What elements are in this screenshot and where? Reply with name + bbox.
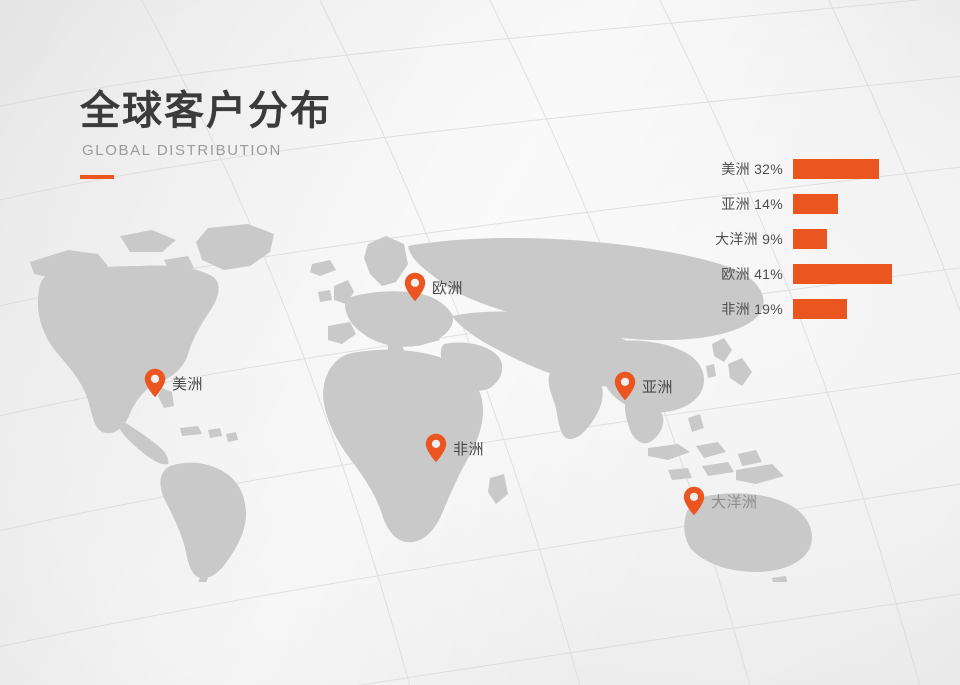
marker-asia[interactable]: 亚洲 <box>614 371 673 401</box>
chart-row-bar <box>793 159 879 179</box>
chart-row-bar <box>793 264 892 284</box>
map-pin-label: 非洲 <box>453 438 484 459</box>
map-pin-icon <box>425 433 447 463</box>
map-pin-label: 欧洲 <box>432 277 463 298</box>
slide-canvas: 全球客户分布 GLOBAL DISTRIBUTION <box>0 0 960 685</box>
map-pin-icon <box>683 486 705 516</box>
chart-row-bar <box>793 229 827 249</box>
chart-row-label: 非洲 19% <box>700 299 793 319</box>
map-pin-icon <box>404 272 426 302</box>
chart-row-label: 亚洲 14% <box>700 194 793 214</box>
chart-row-bar <box>793 194 838 214</box>
chart-row: 大洋洲 9% <box>700 229 827 249</box>
marker-oceania[interactable]: 大洋洲 <box>683 486 758 516</box>
map-pin-icon <box>614 371 636 401</box>
chart-row-bar <box>793 299 847 319</box>
marker-europe[interactable]: 欧洲 <box>404 272 463 302</box>
map-pin-label: 大洋洲 <box>711 491 758 512</box>
marker-africa[interactable]: 非洲 <box>425 433 484 463</box>
chart-row: 欧洲 41% <box>700 264 892 284</box>
map-pin-icon <box>144 368 166 398</box>
map-pin-label: 美洲 <box>172 373 203 394</box>
world-map: 美洲欧洲亚洲非洲大洋洲 <box>0 0 960 685</box>
map-pin-label: 亚洲 <box>642 376 673 397</box>
distribution-bar-chart: 美洲 32%亚洲 14%大洋洲 9%欧洲 41%非洲 19% <box>700 150 930 330</box>
chart-row-label: 美洲 32% <box>700 159 793 179</box>
chart-row: 非洲 19% <box>700 299 847 319</box>
chart-row-label: 大洋洲 9% <box>700 229 793 249</box>
chart-row: 亚洲 14% <box>700 194 838 214</box>
chart-row-label: 欧洲 41% <box>700 264 793 284</box>
marker-americas[interactable]: 美洲 <box>144 368 203 398</box>
chart-row: 美洲 32% <box>700 159 879 179</box>
